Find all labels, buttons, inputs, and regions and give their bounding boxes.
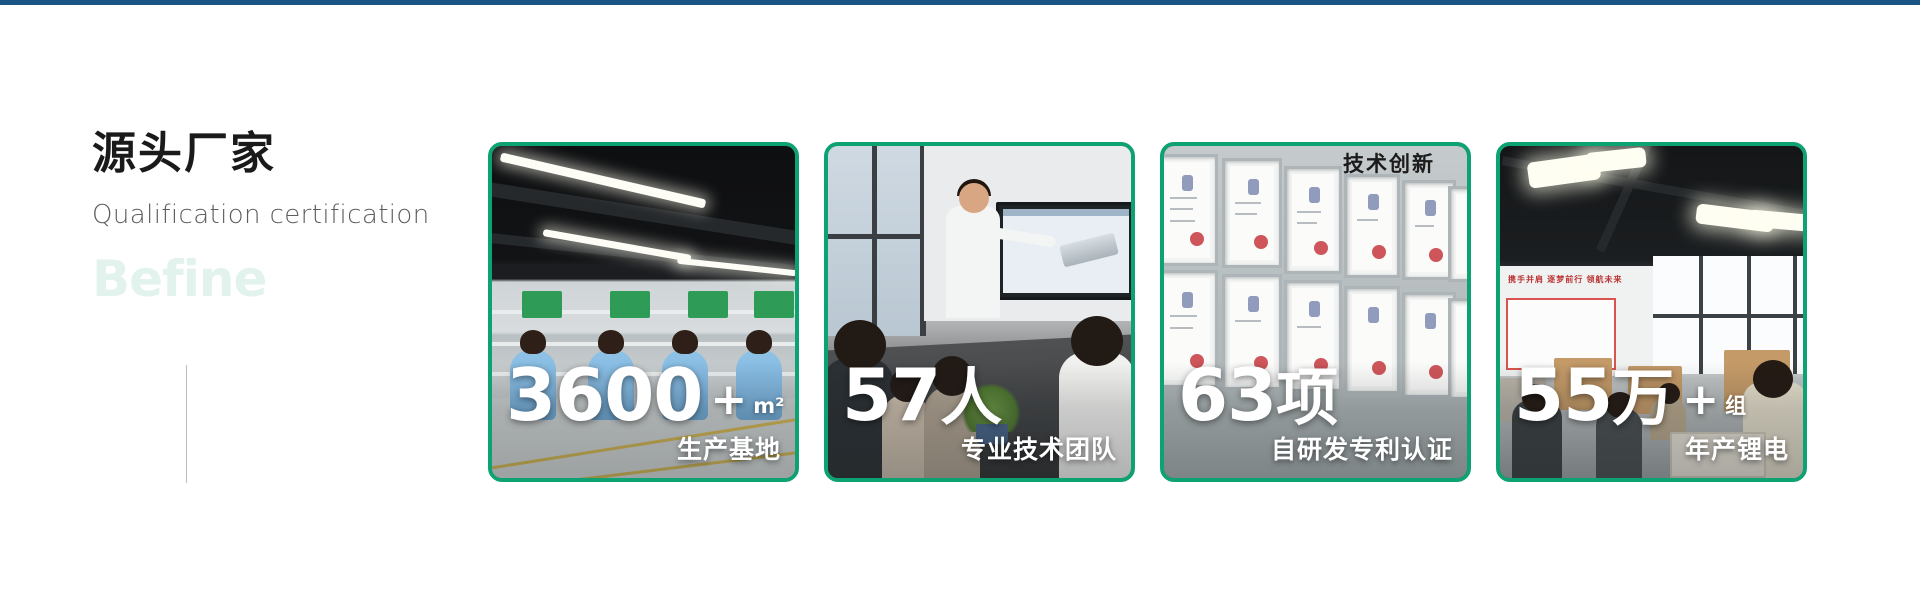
stat-card-annual-output[interactable]: 携手并肩 逐梦前行 领航未来 — [1496, 142, 1807, 482]
stat-plus-sign: + — [710, 380, 747, 420]
brand-watermark: Befine — [92, 254, 492, 304]
stat-number: 3600 — [506, 362, 702, 428]
stat-unit-cn: 项 — [1276, 369, 1338, 428]
stat-card-production-base[interactable]: 3600 + m² 生产基地 — [488, 142, 799, 482]
qualification-certification-banner: 源头厂家 Qualification certification Befine — [0, 0, 1920, 605]
stat-superscript: 组 — [1725, 397, 1746, 416]
stat-number: 55 — [1514, 362, 1612, 428]
stat-superscript: m² — [753, 397, 784, 416]
stat-plus-sign: + — [1682, 380, 1719, 420]
stat-card-patents[interactable]: 技术创新 — [1160, 142, 1471, 482]
stat-unit-cn: 人 — [940, 369, 1002, 428]
stat-overlay: 55 万 + 组 年产锂电 — [1500, 362, 1803, 478]
stat-number: 63 — [1178, 362, 1276, 428]
stat-overlay: 57 人 专业技术团队 — [828, 362, 1131, 478]
stat-card-list: 3600 + m² 生产基地 — [488, 142, 1807, 482]
vertical-divider — [186, 365, 187, 483]
stat-overlay: 63 项 自研发专利认证 — [1164, 362, 1467, 478]
page-subtitle-en: Qualification certification — [92, 200, 492, 231]
top-accent-bar — [0, 0, 1920, 5]
stat-overlay: 3600 + m² 生产基地 — [492, 362, 795, 478]
left-heading-block: 源头厂家 Qualification certification Befine — [92, 130, 492, 304]
stat-number: 57 — [842, 362, 940, 428]
wall-slogan-text: 技术创新 — [1343, 148, 1463, 176]
stat-card-technical-team[interactable]: 57 人 专业技术团队 — [824, 142, 1135, 482]
stat-unit-cn: 万 — [1612, 369, 1674, 428]
page-title-cn: 源头厂家 — [92, 130, 492, 178]
